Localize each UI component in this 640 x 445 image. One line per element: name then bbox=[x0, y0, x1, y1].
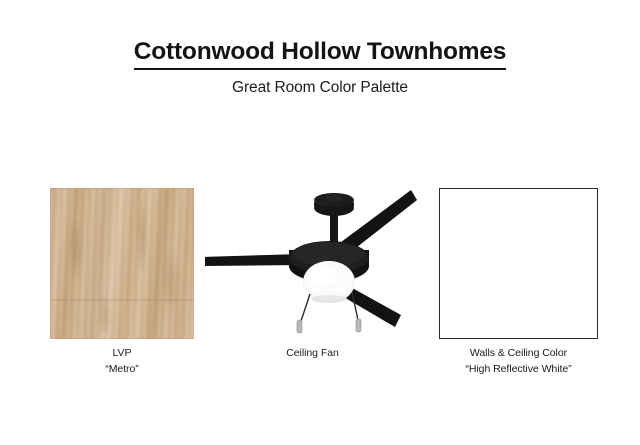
palette-item-lvp: LVP “Metro” bbox=[50, 188, 194, 339]
palette-item-walls-ceiling: Walls & Ceiling Color “High Reflective W… bbox=[439, 188, 598, 339]
wood-grain-mark bbox=[162, 248, 180, 318]
wood-grain-mark bbox=[136, 198, 149, 276]
color-palette-row: LVP “Metro” bbox=[0, 188, 640, 388]
ceiling-fan-icon bbox=[205, 188, 420, 339]
lvp-caption-line1: LVP bbox=[113, 347, 132, 359]
paint-caption-line2: “High Reflective White” bbox=[439, 362, 598, 378]
page-title: Cottonwood Hollow Townhomes bbox=[134, 38, 506, 70]
page-header: Cottonwood Hollow Townhomes Great Room C… bbox=[0, 38, 640, 97]
lvp-wood-swatch bbox=[50, 188, 194, 339]
paint-caption: Walls & Ceiling Color “High Reflective W… bbox=[439, 346, 598, 377]
wood-grain-mark bbox=[68, 218, 84, 280]
paint-color-swatch bbox=[439, 188, 598, 339]
lvp-caption-line2: “Metro” bbox=[50, 362, 194, 378]
wood-grain-mark bbox=[98, 292, 112, 338]
palette-item-ceiling-fan: Ceiling Fan bbox=[205, 188, 420, 339]
lvp-caption: LVP “Metro” bbox=[50, 346, 194, 377]
ceiling-fan-image bbox=[205, 188, 420, 339]
ceiling-fan-caption-line1: Ceiling Fan bbox=[286, 347, 339, 359]
paint-caption-line1: Walls & Ceiling Color bbox=[470, 347, 567, 359]
page-subtitle: Great Room Color Palette bbox=[0, 79, 640, 97]
ceiling-fan-caption: Ceiling Fan bbox=[205, 346, 420, 362]
